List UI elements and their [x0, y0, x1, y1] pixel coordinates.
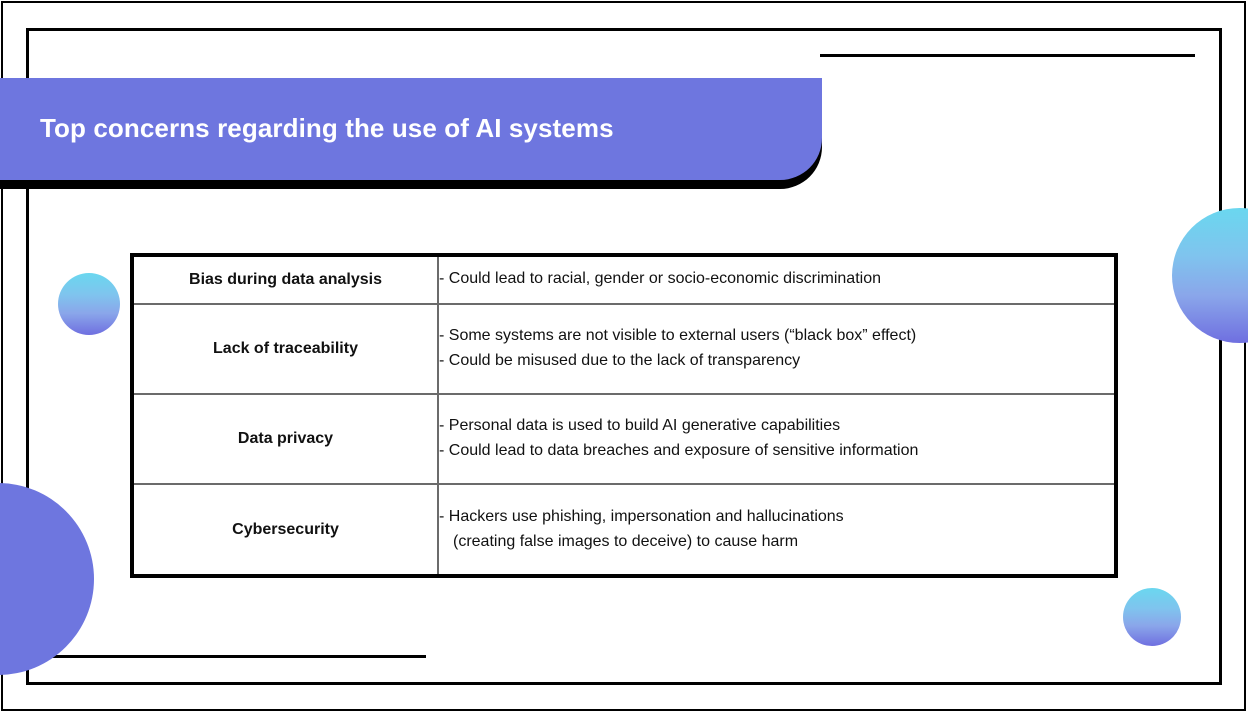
- title-banner: Top concerns regarding the use of AI sys…: [0, 78, 822, 180]
- topic-cell: Bias during data analysis: [132, 255, 438, 304]
- decorative-circle-left-small: [58, 273, 120, 335]
- detail-line: (creating false images to deceive) to ca…: [439, 530, 1114, 555]
- detail-cell: - Could lead to racial, gender or socio-…: [438, 255, 1116, 304]
- page-title: Top concerns regarding the use of AI sys…: [0, 113, 614, 146]
- table-row: Lack of traceability - Some systems are …: [132, 304, 1116, 394]
- decorative-circle-left-large: [0, 483, 94, 675]
- detail-line: - Personal data is used to build AI gene…: [439, 414, 1114, 439]
- topic-cell: Data privacy: [132, 394, 438, 484]
- topic-cell: Cybersecurity: [132, 484, 438, 576]
- slide-canvas: Top concerns regarding the use of AI sys…: [0, 0, 1248, 713]
- decorative-circle-right-large: [1172, 208, 1248, 343]
- detail-line: - Could lead to racial, gender or socio-…: [439, 267, 1114, 292]
- detail-line: - Could be misused due to the lack of tr…: [439, 349, 1114, 374]
- concerns-table-body: Bias during data analysis - Could lead t…: [132, 255, 1116, 576]
- table-row: Bias during data analysis - Could lead t…: [132, 255, 1116, 304]
- detail-line: - Some systems are not visible to extern…: [439, 324, 1114, 349]
- detail-cell: - Hackers use phishing, impersonation an…: [438, 484, 1116, 576]
- title-banner-body: Top concerns regarding the use of AI sys…: [0, 78, 822, 180]
- detail-cell: - Some systems are not visible to extern…: [438, 304, 1116, 394]
- topic-cell: Lack of traceability: [132, 304, 438, 394]
- accent-rule-bottom-left: [52, 655, 426, 658]
- concerns-table: Bias during data analysis - Could lead t…: [130, 253, 1118, 578]
- accent-rule-top-right: [820, 54, 1195, 57]
- detail-cell: - Personal data is used to build AI gene…: [438, 394, 1116, 484]
- table-row: Cybersecurity - Hackers use phishing, im…: [132, 484, 1116, 576]
- decorative-circle-right-small: [1123, 588, 1181, 646]
- detail-line: - Hackers use phishing, impersonation an…: [439, 505, 1114, 530]
- table-row: Data privacy - Personal data is used to …: [132, 394, 1116, 484]
- detail-line: - Could lead to data breaches and exposu…: [439, 439, 1114, 464]
